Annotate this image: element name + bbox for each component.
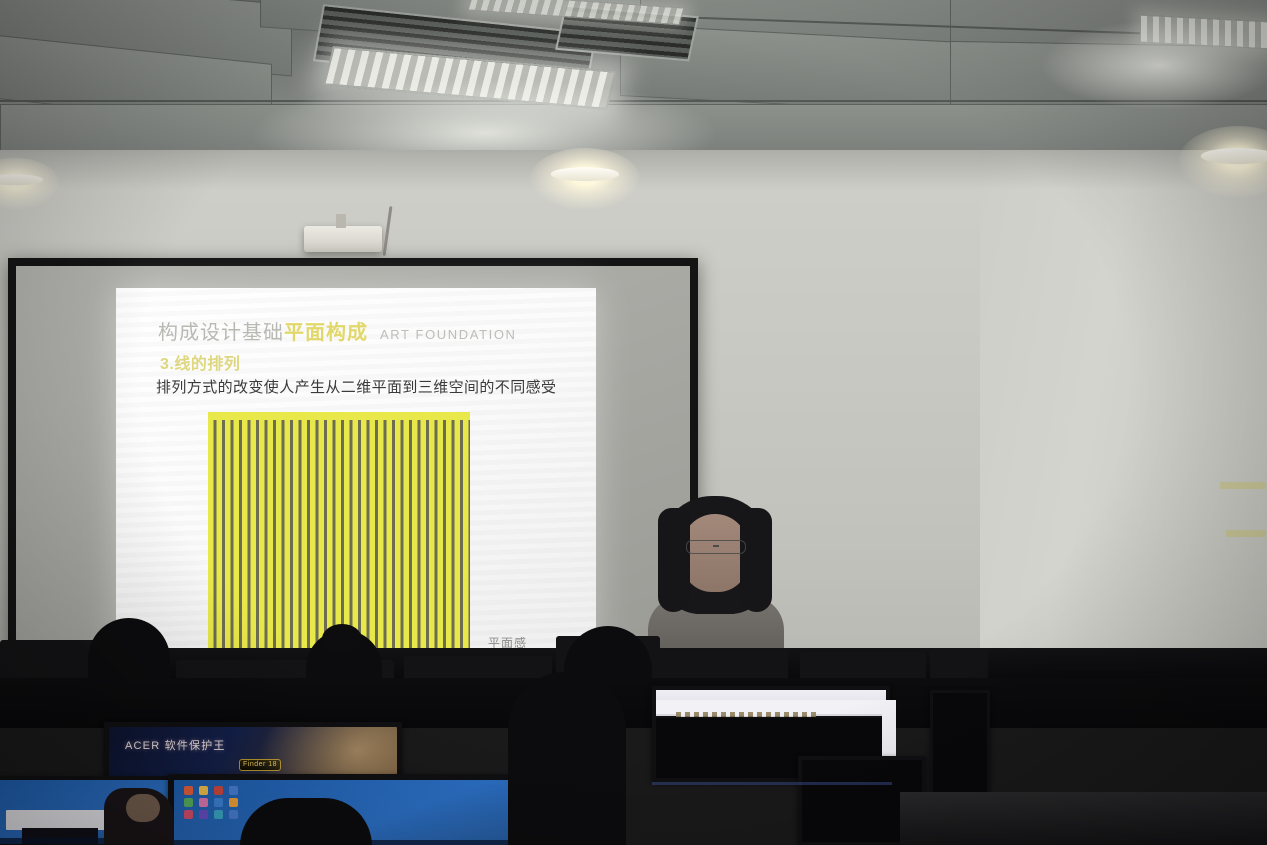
desktop-icon[interactable]: [199, 798, 208, 807]
slide-title: 构成设计基础平面构成ART FOUNDATION: [158, 316, 517, 345]
desk-front-edge: [900, 792, 1267, 845]
desktop-window-left: [6, 810, 114, 830]
instructor-glasses-bridge: [713, 545, 719, 547]
desktop-icon[interactable]: [214, 786, 223, 795]
instructor-hair-front-left: [658, 508, 690, 612]
student-hand: [126, 794, 160, 822]
side-wall-right: [980, 150, 1267, 710]
projected-slide: 构成设计基础平面构成ART FOUNDATION 3.线的排列 排列方式的改变使…: [116, 288, 596, 662]
desktop-icon[interactable]: [214, 798, 223, 807]
student-foreground-right: [508, 672, 626, 845]
desktop-icon[interactable]: [184, 786, 193, 795]
desktop-icon-grid[interactable]: [184, 786, 241, 819]
student-bun-knot: [322, 624, 362, 654]
desktop-icon[interactable]: [199, 810, 208, 819]
desktop-icon[interactable]: [184, 810, 193, 819]
slide-title-grey: 构成设计基础: [158, 322, 284, 344]
classroom-photo: 构成设计基础平面构成ART FOUNDATION 3.线的排列 排列方式的改变使…: [0, 0, 1267, 845]
ceiling: [0, 0, 1267, 160]
monitor-off-far-right: [930, 690, 990, 802]
wall-mark-upper: [1220, 482, 1266, 489]
desktop-icon[interactable]: [229, 798, 238, 807]
desktop-icon[interactable]: [184, 798, 193, 807]
window-content-row: [676, 712, 816, 717]
wall-mark-lower: [1226, 530, 1266, 537]
recessed-downlight-left: [530, 148, 640, 210]
projector-mount: [336, 214, 346, 228]
slide-section-heading: 3.线的排列: [160, 350, 240, 374]
desktop-icon[interactable]: [214, 810, 223, 819]
desktop-icon[interactable]: [199, 786, 208, 795]
slide-title-english: ART FOUNDATION: [380, 327, 517, 342]
monitor-off-far-screen: [933, 693, 987, 799]
slide-title-yellow: 平面构成: [284, 322, 368, 344]
desktop-icon[interactable]: [229, 786, 238, 795]
acer-screen-text: ACER 软件保护王: [125, 737, 226, 753]
instructor-glasses: [686, 540, 746, 554]
slide-body-text: 排列方式的改变使人产生从二维平面到三维空间的不同感受: [156, 376, 556, 397]
instructor-hair-front-right: [740, 508, 772, 612]
monitor-glow-edge: [652, 782, 892, 785]
desktop-icon[interactable]: [229, 810, 238, 819]
desk-row-mid: [0, 678, 1267, 728]
ceiling-projector: [304, 226, 382, 252]
